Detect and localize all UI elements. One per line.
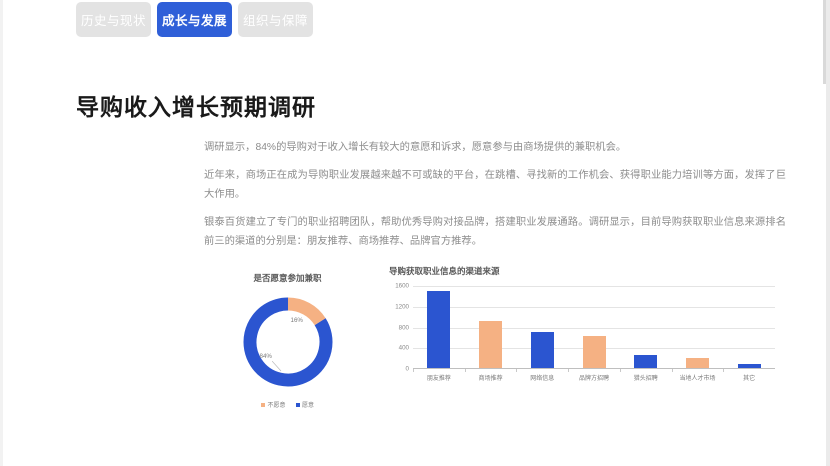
page-title: 导购收入增长预期调研 xyxy=(76,88,316,122)
x-axis-label: 朋友推荐 xyxy=(413,373,465,382)
bar[interactable] xyxy=(531,332,554,368)
legend-item-not-willing[interactable]: 不愿意 xyxy=(261,400,286,409)
tab-organization-label: 组织与保障 xyxy=(243,10,308,29)
x-axis-label: 商场推荐 xyxy=(465,373,517,382)
x-axis-tick xyxy=(568,369,620,372)
y-axis: 040080012001600 xyxy=(385,285,411,369)
x-axis-label: 品牌方招聘 xyxy=(568,373,620,382)
x-axis-label: 其它 xyxy=(723,373,775,382)
donut-label-willing: 84% xyxy=(260,353,272,360)
bar[interactable] xyxy=(738,364,761,368)
legend-swatch-orange-icon xyxy=(261,403,265,407)
x-axis-label: 网络信息 xyxy=(516,373,568,382)
tab-growth[interactable]: 成长与发展 xyxy=(157,2,232,37)
x-axis-ticks xyxy=(413,369,775,372)
bar[interactable] xyxy=(427,291,450,368)
y-tick-label: 0 xyxy=(406,366,409,373)
donut-legend: 不愿意 愿意 xyxy=(200,400,375,409)
bar[interactable] xyxy=(479,321,502,368)
tab-history[interactable]: 历史与现状 xyxy=(76,2,151,37)
bar-cell xyxy=(413,285,465,368)
tab-growth-label: 成长与发展 xyxy=(162,10,227,29)
x-axis-tick xyxy=(516,369,568,372)
tab-organization[interactable]: 组织与保障 xyxy=(238,2,313,37)
right-edge-strip xyxy=(826,0,830,466)
legend-swatch-blue-icon xyxy=(296,403,300,407)
legend-label-not-willing: 不愿意 xyxy=(267,400,285,409)
bar-cell xyxy=(568,285,620,368)
x-axis-tick xyxy=(413,369,465,372)
paragraph-1: 调研显示，84%的导购对于收入增长有较大的意愿和诉求，愿意参与由商场提供的兼职机… xyxy=(204,138,786,157)
bar-cell xyxy=(620,285,672,368)
bar-series xyxy=(413,285,775,368)
bar-cell xyxy=(516,285,568,368)
bar[interactable] xyxy=(634,355,657,368)
y-tick-label: 1600 xyxy=(395,283,409,290)
y-tick-label: 800 xyxy=(399,324,409,331)
bar[interactable] xyxy=(686,358,709,368)
body-text: 调研显示，84%的导购对于收入增长有较大的意愿和诉求，愿意参与由商场提供的兼职机… xyxy=(204,138,786,260)
tab-bar: 历史与现状 成长与发展 组织与保障 xyxy=(76,2,313,37)
donut-chart: 是否愿意参加兼职 16% 84% 不愿意 愿意 xyxy=(200,266,375,414)
x-axis-label: 猎头招聘 xyxy=(620,373,672,382)
y-tick-label: 400 xyxy=(399,345,409,352)
grid-area xyxy=(413,285,775,369)
bar-chart-title: 导购获取职业信息的渠道来源 xyxy=(389,265,785,277)
donut-label-not-willing: 16% xyxy=(291,317,303,324)
donut-svg xyxy=(238,292,338,392)
donut-leader-line xyxy=(272,361,283,372)
y-tick-label: 1200 xyxy=(395,303,409,310)
x-axis-label: 当地人才市场 xyxy=(672,373,724,382)
bar-cell xyxy=(672,285,724,368)
bar-cell xyxy=(465,285,517,368)
paragraph-3: 银泰百货建立了专门的职业招聘团队，帮助优秀导购对接品牌，搭建职业发展通路。调研显… xyxy=(204,213,786,251)
legend-label-willing: 愿意 xyxy=(302,400,314,409)
x-axis-tick xyxy=(672,369,724,372)
slide-page: 历史与现状 成长与发展 组织与保障 导购收入增长预期调研 调研显示，84%的导购… xyxy=(0,0,830,466)
x-axis-tick xyxy=(723,369,775,372)
bar[interactable] xyxy=(583,336,606,368)
x-axis-tick xyxy=(465,369,517,372)
bar-chart: 导购获取职业信息的渠道来源 040080012001600 朋友推荐商场推荐网络… xyxy=(385,265,785,415)
bar-cell xyxy=(723,285,775,368)
donut-graphic: 16% 84% xyxy=(238,292,338,392)
bar-chart-plot: 040080012001600 朋友推荐商场推荐网络信息品牌方招聘猎头招聘当地人… xyxy=(385,285,785,383)
tab-history-label: 历史与现状 xyxy=(81,10,146,29)
paragraph-2: 近年来，商场正在成为导购职业发展越来越不可或缺的平台，在跳槽、寻找新的工作机会、… xyxy=(204,166,786,204)
legend-item-willing[interactable]: 愿意 xyxy=(296,400,315,409)
x-axis-tick xyxy=(620,369,672,372)
right-scroll-indicator[interactable] xyxy=(823,0,826,84)
donut-chart-title: 是否愿意参加兼职 xyxy=(200,272,375,284)
left-edge-strip xyxy=(0,0,3,466)
x-axis-labels: 朋友推荐商场推荐网络信息品牌方招聘猎头招聘当地人才市场其它 xyxy=(413,373,775,382)
